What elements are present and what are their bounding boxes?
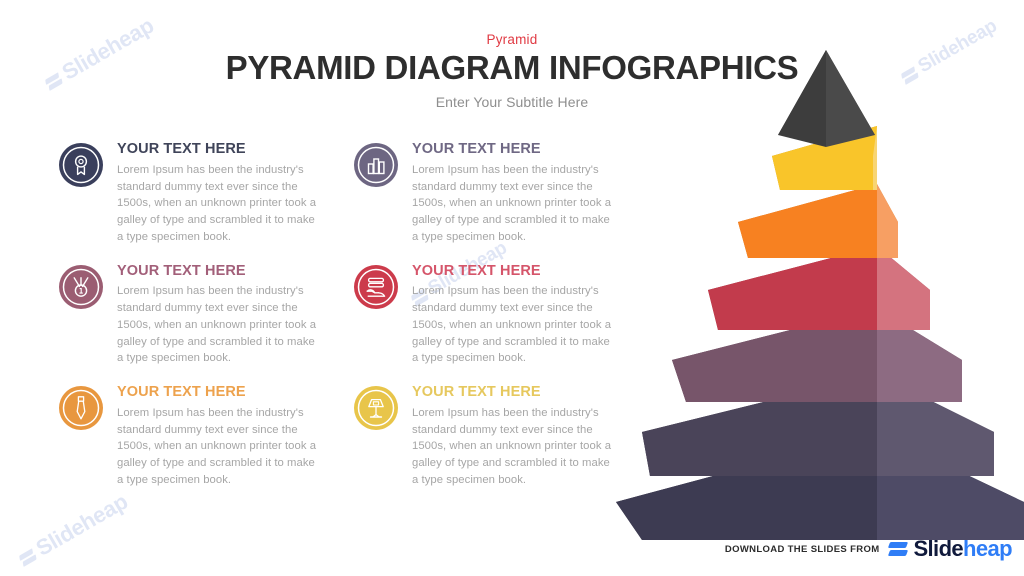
feature-text: YOUR TEXT HERE Lorem Ipsum has been the … <box>117 383 317 489</box>
feature-body: Lorem Ipsum has been the industry's stan… <box>412 405 612 489</box>
desk-lamp-icon <box>353 385 399 431</box>
feature-heading: YOUR TEXT HERE <box>412 264 612 280</box>
award-badge-icon <box>58 142 104 188</box>
medal-icon <box>58 264 104 310</box>
slide-canvas: Slideheap Slideheap Slideheap Slideheap … <box>0 0 1024 576</box>
slideheap-logo[interactable]: Slideheap <box>888 536 1012 562</box>
feature-item[interactable]: YOUR TEXT HERE Lorem Ipsum has been the … <box>58 262 343 368</box>
feature-item[interactable]: YOUR TEXT HERE Lorem Ipsum has been the … <box>58 383 343 489</box>
feature-heading: YOUR TEXT HERE <box>117 385 317 401</box>
slideheap-mark-icon <box>888 539 909 560</box>
watermark-text: Slideheap <box>32 489 133 562</box>
pyramid-layer-3[interactable] <box>738 184 898 258</box>
footer: DOWNLOAD THE SLIDES FROM Slideheap <box>725 536 1012 562</box>
pyramid-layer-apex[interactable] <box>778 50 875 147</box>
logo-accent-text: heap <box>963 536 1012 561</box>
feature-body: Lorem Ipsum has been the industry's stan… <box>117 162 317 246</box>
feature-text: YOUR TEXT HERE Lorem Ipsum has been the … <box>117 262 317 368</box>
feature-body: Lorem Ipsum has been the industry's stan… <box>117 405 317 489</box>
feature-text: YOUR TEXT HERE Lorem Ipsum has been the … <box>412 262 612 368</box>
feature-body: Lorem Ipsum has been the industry's stan… <box>412 162 612 246</box>
slideheap-mark-icon <box>16 545 39 568</box>
feature-text: YOUR TEXT HERE Lorem Ipsum has been the … <box>117 140 317 246</box>
pyramid-svg <box>590 40 1024 540</box>
feature-body: Lorem Ipsum has been the industry's stan… <box>117 283 317 367</box>
feature-text: YOUR TEXT HERE Lorem Ipsum has been the … <box>412 140 612 246</box>
feature-heading: YOUR TEXT HERE <box>412 385 612 401</box>
pyramid-diagram[interactable] <box>590 40 1024 540</box>
hand-money-icon <box>353 264 399 310</box>
logo-primary-text: Slide <box>913 536 963 561</box>
footer-label: DOWNLOAD THE SLIDES FROM <box>725 544 880 555</box>
pyramid-layer-4[interactable] <box>708 246 930 330</box>
feature-body: Lorem Ipsum has been the industry's stan… <box>412 283 612 367</box>
feature-heading: YOUR TEXT HERE <box>117 142 317 158</box>
bar-chart-icon <box>353 142 399 188</box>
feature-item[interactable]: YOUR TEXT HERE Lorem Ipsum has been the … <box>58 140 343 246</box>
feature-text: YOUR TEXT HERE Lorem Ipsum has been the … <box>412 383 612 489</box>
feature-grid: YOUR TEXT HERE Lorem Ipsum has been the … <box>58 140 638 489</box>
feature-heading: YOUR TEXT HERE <box>117 264 317 280</box>
watermark: Slideheap <box>14 489 133 573</box>
necktie-icon <box>58 385 104 431</box>
feature-heading: YOUR TEXT HERE <box>412 142 612 158</box>
